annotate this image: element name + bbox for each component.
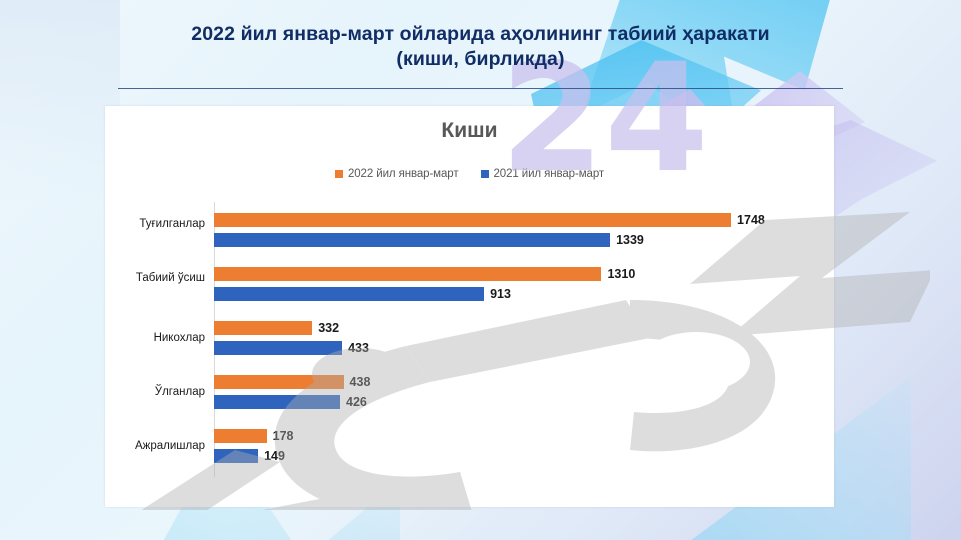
bar-value-label: 178 bbox=[273, 429, 294, 443]
bar-2021[interactable] bbox=[214, 449, 258, 463]
bar-value-label: 426 bbox=[346, 395, 367, 409]
legend-label-2022: 2022 йил январ-март bbox=[348, 168, 459, 180]
bar-value-label: 1339 bbox=[616, 233, 644, 247]
bar-2021[interactable] bbox=[214, 341, 342, 355]
bar-value-label: 433 bbox=[348, 341, 369, 355]
bar-2022[interactable] bbox=[214, 429, 267, 443]
slide-title-line-2: (киши, бирликда) bbox=[0, 47, 961, 72]
bar-2022[interactable] bbox=[214, 375, 344, 389]
chart-plot-area: Туғилганлар17481339Табиий ўсиш1310913Ник… bbox=[105, 202, 834, 492]
bar-value-label: 332 bbox=[318, 321, 339, 335]
bar-2021[interactable] bbox=[214, 287, 484, 301]
category-label: Ажралишлар bbox=[105, 440, 205, 453]
category-label: Табиий ўсиш bbox=[105, 272, 205, 285]
bar-value-label: 1310 bbox=[607, 267, 635, 281]
legend-swatch-2022 bbox=[335, 170, 343, 178]
bar-2021[interactable] bbox=[214, 395, 340, 409]
bar-value-label: 913 bbox=[490, 287, 511, 301]
bar-2022[interactable] bbox=[214, 321, 312, 335]
category-label: Ўлганлар bbox=[105, 386, 205, 399]
bar-2022[interactable] bbox=[214, 213, 731, 227]
bar-value-label: 1748 bbox=[737, 213, 765, 227]
slide-root: 2022 йил январ-март ойларида аҳолининг т… bbox=[0, 0, 961, 540]
slide-title-line-1: 2022 йил январ-март ойларида аҳолининг т… bbox=[0, 22, 961, 47]
bar-value-label: 438 bbox=[350, 375, 371, 389]
bar-2022[interactable] bbox=[214, 267, 601, 281]
title-divider bbox=[118, 88, 843, 89]
slide-title: 2022 йил январ-март ойларида аҳолининг т… bbox=[0, 22, 961, 72]
bar-value-label: 149 bbox=[264, 449, 285, 463]
legend-swatch-2021 bbox=[481, 170, 489, 178]
category-label: Никохлар bbox=[105, 332, 205, 345]
legend-item-2022[interactable]: 2022 йил январ-март bbox=[335, 168, 459, 180]
category-label: Туғилганлар bbox=[105, 218, 205, 231]
bar-2021[interactable] bbox=[214, 233, 610, 247]
